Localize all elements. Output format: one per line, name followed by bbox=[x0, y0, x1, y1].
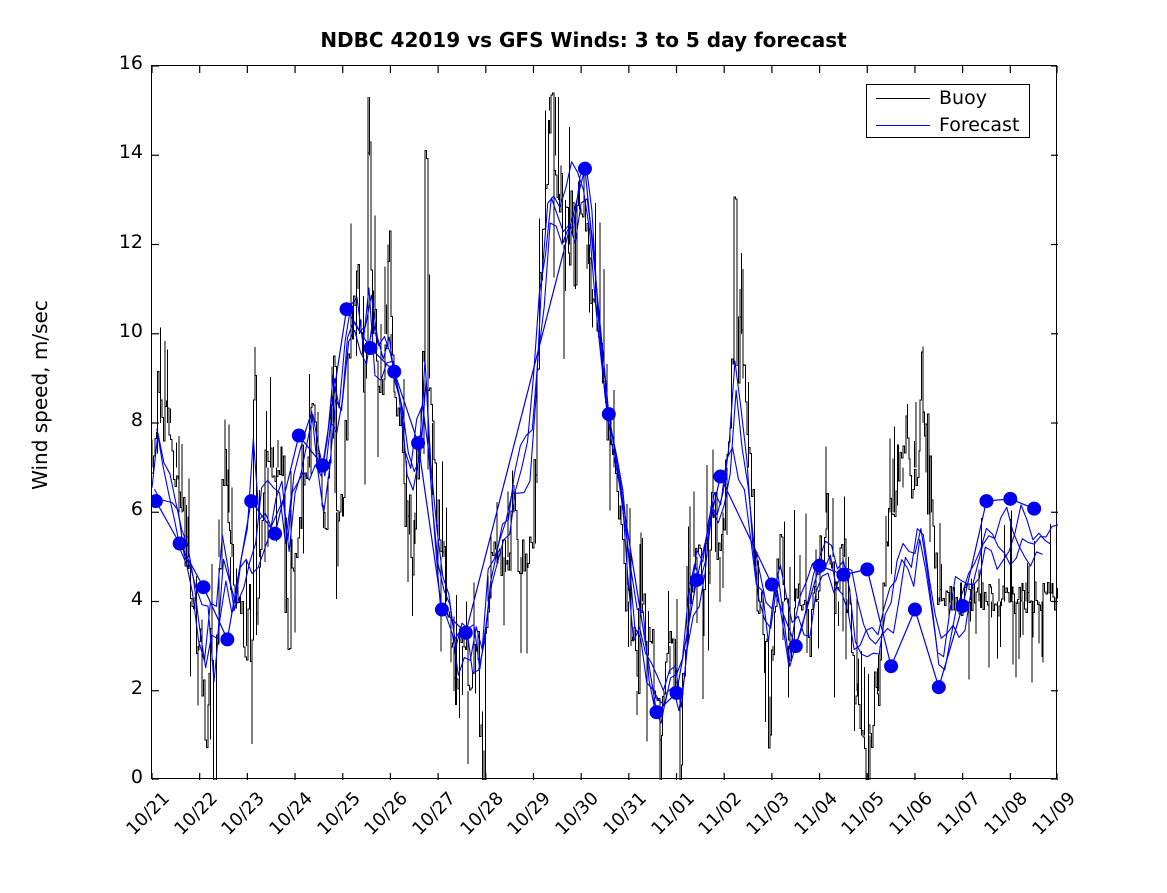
forecast-marker bbox=[435, 603, 448, 616]
forecast-marker bbox=[221, 633, 234, 646]
axis-ticks bbox=[152, 66, 1058, 780]
forecast-marker bbox=[932, 681, 945, 694]
forecast-marker bbox=[837, 568, 850, 581]
forecast-marker bbox=[412, 437, 425, 450]
forecast-marker bbox=[173, 537, 186, 550]
forecast-marker bbox=[364, 342, 377, 355]
legend-line-forecast bbox=[876, 125, 930, 126]
forecast-marker bbox=[765, 578, 778, 591]
plot-canvas bbox=[152, 66, 1058, 780]
forecast-marker bbox=[152, 495, 162, 508]
forecast-marker bbox=[861, 563, 874, 576]
forecast-marker-points bbox=[152, 162, 1041, 719]
legend-label-forecast: Forecast bbox=[939, 116, 1019, 135]
forecast-marker bbox=[1028, 502, 1041, 515]
forecast-marker bbox=[908, 603, 921, 616]
forecast-marker bbox=[690, 574, 703, 587]
forecast-marker bbox=[714, 470, 727, 483]
forecast-marker bbox=[650, 706, 663, 719]
series-buoy bbox=[152, 93, 1058, 780]
forecast-marker bbox=[602, 408, 615, 421]
plot-area bbox=[151, 65, 1057, 779]
legend-entry-forecast: Forecast bbox=[867, 112, 1029, 139]
forecast-marker bbox=[459, 626, 472, 639]
chart-legend: Buoy Forecast bbox=[866, 84, 1030, 138]
forecast-marker bbox=[197, 581, 210, 594]
forecast-marker bbox=[245, 495, 258, 508]
forecast-marker bbox=[670, 686, 683, 699]
legend-line-buoy bbox=[876, 98, 930, 99]
forecast-marker bbox=[956, 599, 969, 612]
forecast-marker bbox=[292, 429, 305, 442]
forecast-marker bbox=[1004, 492, 1017, 505]
forecast-marker bbox=[789, 640, 802, 653]
chart-figure: NDBC 42019 vs GFS Winds: 3 to 5 day fore… bbox=[0, 0, 1167, 875]
forecast-marker bbox=[269, 527, 282, 540]
forecast-marker bbox=[813, 559, 826, 572]
forecast-marker bbox=[340, 303, 353, 316]
forecast-marker bbox=[578, 162, 591, 175]
forecast-marker bbox=[885, 660, 898, 673]
forecast-marker bbox=[980, 495, 993, 508]
forecast-marker bbox=[316, 459, 329, 472]
forecast-marker bbox=[388, 365, 401, 378]
legend-entry-buoy: Buoy bbox=[867, 85, 1029, 112]
legend-label-buoy: Buoy bbox=[939, 89, 987, 108]
